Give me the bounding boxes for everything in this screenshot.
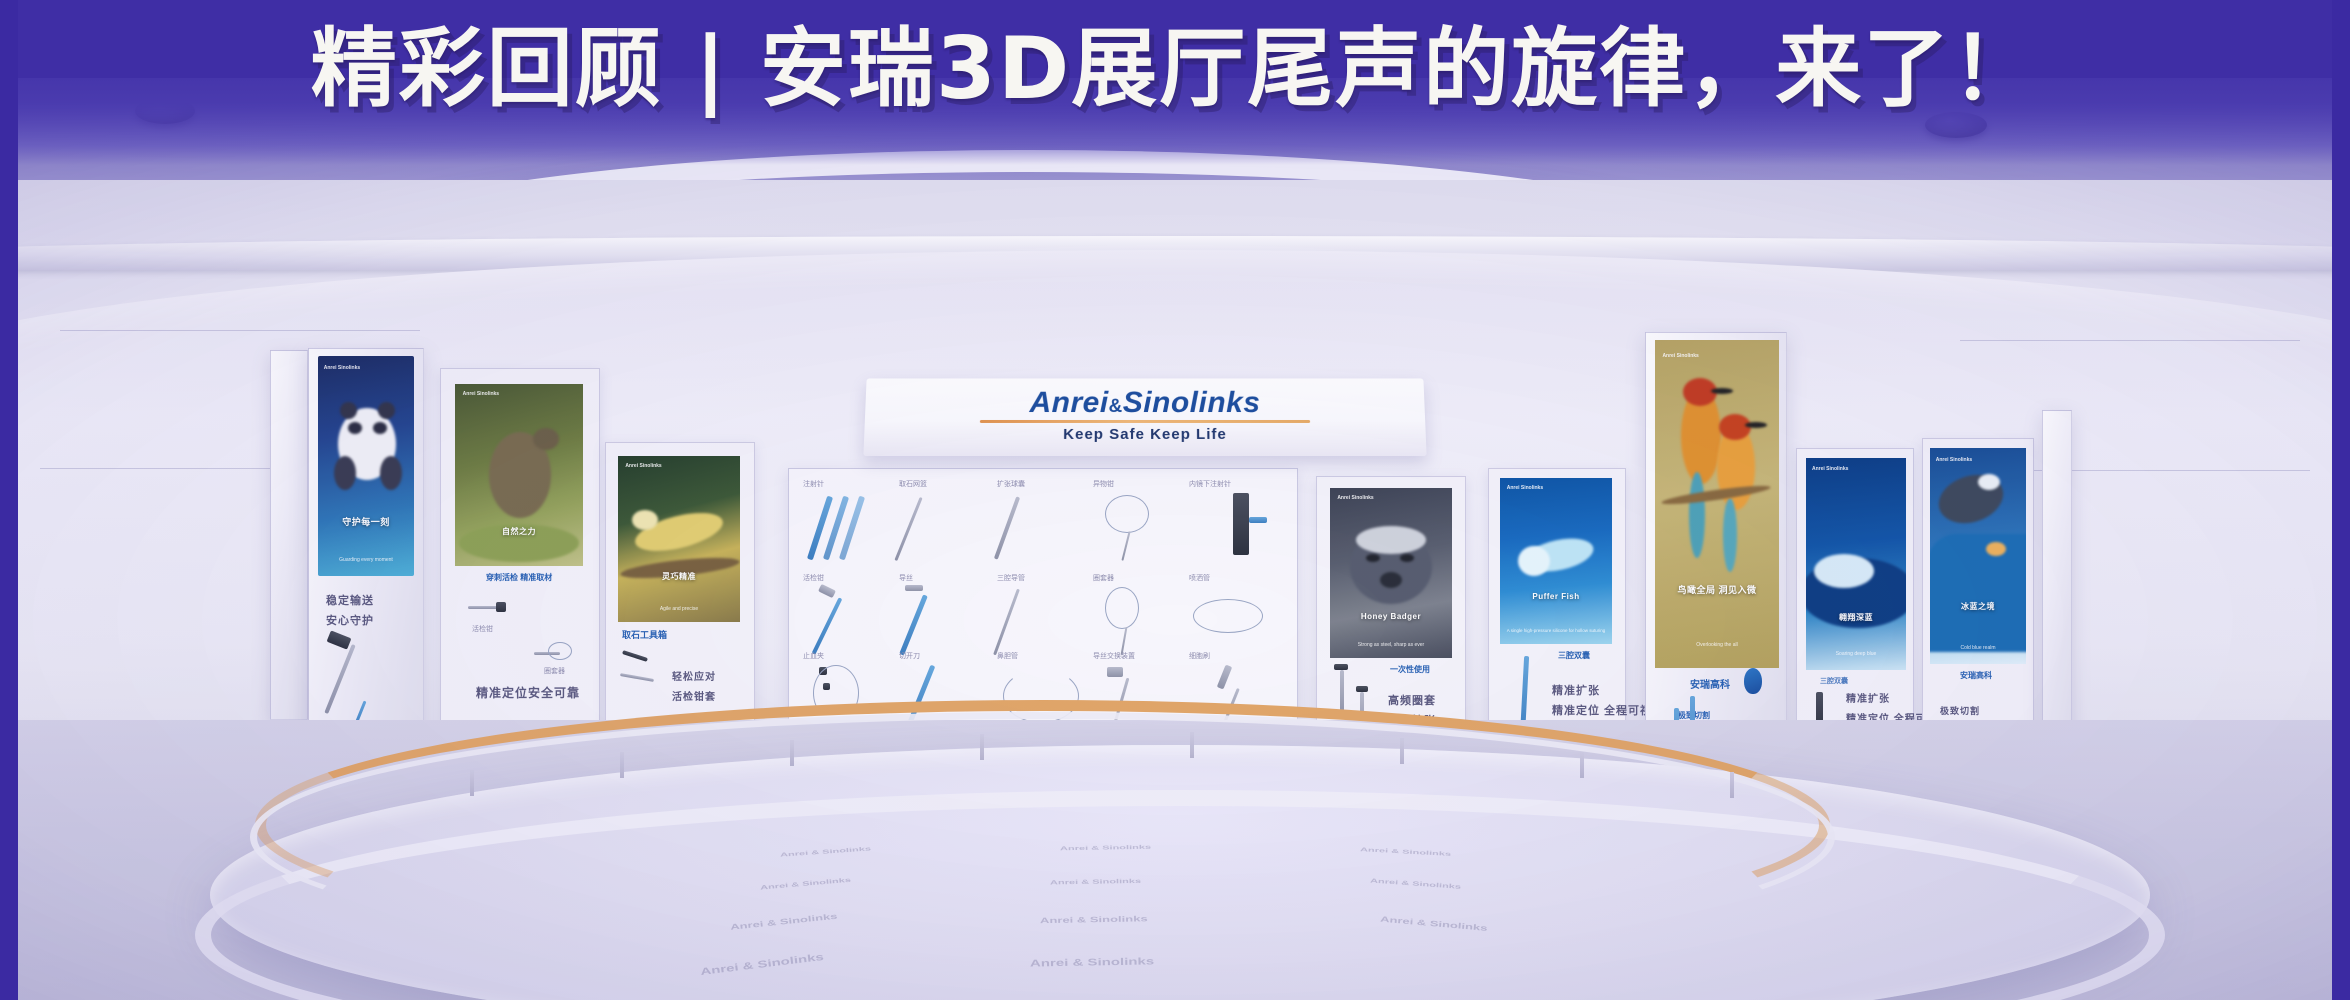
rail-post xyxy=(470,770,474,796)
bird-beak-icon xyxy=(1745,422,1767,428)
product-label: 导丝 xyxy=(899,573,913,583)
bird-tail-icon xyxy=(1723,498,1737,572)
bird-branch xyxy=(1661,482,1771,507)
poster-title: 鸟瞰全局 洞见入微 xyxy=(1662,583,1771,596)
poster-logo-label: Anrei Sinolinks xyxy=(625,463,661,469)
caption-badger-2: 高频圈套 xyxy=(1388,692,1436,708)
device-label: 活检钳 xyxy=(472,624,493,634)
brand-swoosh-icon xyxy=(980,420,1310,423)
gecko-head-icon xyxy=(632,510,658,530)
brand-name: Anrei&Sinolinks xyxy=(865,386,1425,420)
kangaroo-head-icon xyxy=(533,428,559,450)
panda-eye-icon xyxy=(348,422,362,434)
product-guidewire-handle xyxy=(905,585,923,591)
product-endo-injector xyxy=(1233,493,1249,555)
caption-lizard: 取石工具箱 xyxy=(622,628,667,641)
caption-kangaroo: 穿刺活检 精准取材 xyxy=(486,572,552,583)
poster-title: Puffer Fish xyxy=(1507,592,1606,601)
product-triple-lumen xyxy=(993,589,1020,656)
product-biopsy-forceps-jaw xyxy=(818,584,836,598)
caption-panda-1: 稳定输送 xyxy=(326,592,374,608)
poster-subtitle: Strong as steel, sharp as ever xyxy=(1337,642,1444,648)
device-forceps xyxy=(468,606,498,609)
caption-kangaroo-sub: 精准定位安全可靠 xyxy=(476,684,580,701)
rail-post xyxy=(1580,752,1584,778)
panda-ear-icon xyxy=(378,402,395,419)
product-balloon xyxy=(994,496,1020,559)
brand-tagline: Keep Safe Keep Life xyxy=(864,426,1426,443)
poster-logo-label: Anrei Sinolinks xyxy=(463,391,499,397)
poster-ice[interactable]: Anrei Sinolinks 冰蓝之境 Cold blue realm xyxy=(1930,448,2026,664)
poster-subtitle: Guarding every moment xyxy=(324,557,409,563)
rail-post xyxy=(980,734,984,760)
device-label: 圈套器 xyxy=(544,666,565,676)
badger-snout-icon xyxy=(1380,572,1402,588)
poster-logo-label: Anrei Sinolinks xyxy=(1507,485,1543,491)
poster-subtitle: Cold blue realm xyxy=(1936,645,2021,651)
poster-panda[interactable]: Anrei Sinolinks 守护每一刻 Guarding every mom… xyxy=(318,356,414,576)
dolphin-bubble-icon xyxy=(1518,546,1550,576)
stage-rail-white xyxy=(250,712,1835,962)
product-cytology-brush xyxy=(1217,665,1232,690)
poster-logo-label: Anrei Sinolinks xyxy=(1662,353,1698,359)
wall-brand-sign: Anrei&Sinolinks Keep Safe Keep Life xyxy=(863,378,1426,456)
product-label: 三腔导管 xyxy=(997,573,1025,583)
caption-ocean: 三腔双囊 xyxy=(1820,676,1848,686)
left-border-strip xyxy=(0,0,18,1000)
poster-dolphin[interactable]: Anrei Sinolinks Puffer Fish A single hig… xyxy=(1500,478,1612,644)
product-biopsy-forceps-shaft xyxy=(812,597,843,654)
poster-ocean[interactable]: Anrei Sinolinks 翱翔深蓝 Soaring deep blue xyxy=(1806,458,1906,670)
iceberg-illustration xyxy=(1930,534,2026,652)
product-exchange-device xyxy=(1107,667,1123,677)
caption-ocean-2: 精准扩张 xyxy=(1846,690,1890,705)
rail-post xyxy=(620,752,624,778)
brand-name-left: Anrei xyxy=(1029,386,1108,419)
product-spray-catheter-loop xyxy=(1193,599,1263,633)
poster-title: 翱翔深蓝 xyxy=(1812,612,1900,623)
poster-title: 冰蓝之境 xyxy=(1936,601,2021,612)
poster-subtitle: A single high-pressure silicone for holl… xyxy=(1507,628,1606,634)
badger-crown-icon xyxy=(1356,526,1426,554)
caption-dolphin-2: 精准扩张 xyxy=(1552,682,1600,698)
panda-ear-icon xyxy=(340,402,357,419)
panda-eye-icon xyxy=(373,422,387,434)
badger-eye-icon xyxy=(1366,554,1380,562)
brand-mark-label-right: 安瑞高科 xyxy=(1960,670,1992,681)
product-forceps-loop xyxy=(1105,495,1149,533)
panda-arm-icon xyxy=(380,456,402,490)
poster-kangaroo[interactable]: Anrei Sinolinks 自然之力 xyxy=(455,384,583,566)
device-snare-loop xyxy=(548,642,572,660)
poster-badger[interactable]: Anrei Sinolinks Honey Badger Strong as s… xyxy=(1330,488,1452,658)
sun-icon xyxy=(1986,542,2006,556)
product-guidewire xyxy=(899,594,928,655)
poster-title: 自然之力 xyxy=(463,526,576,537)
poster-title: Honey Badger xyxy=(1337,612,1444,621)
poster-lizard[interactable]: Anrei Sinolinks 灵巧精准 Agile and precise xyxy=(618,456,740,622)
product-basket xyxy=(894,497,922,561)
caption-lizard-3: 活检钳套 xyxy=(672,688,716,703)
product-label: 活检钳 xyxy=(803,573,824,583)
caption-dolphin-1: 三腔双囊 xyxy=(1558,650,1590,661)
product-label: 止血夹 xyxy=(803,651,824,661)
poster-subtitle: Overlooking the all xyxy=(1662,642,1771,648)
product-label: 内镜下注射针 xyxy=(1189,479,1231,489)
badger-eye-icon xyxy=(1400,554,1414,562)
product-label: 鼻胆管 xyxy=(997,651,1018,661)
bird-beak-icon xyxy=(1711,388,1733,394)
rail-post xyxy=(1400,738,1404,764)
poster-subtitle: Soaring deep blue xyxy=(1812,651,1900,657)
exhibition-hall-screenshot: Anrei Sinolinks 守护每一刻 Guarding every mom… xyxy=(0,0,2350,1000)
pillar-left[interactable] xyxy=(270,350,308,720)
poster-logo-label: Anrei Sinolinks xyxy=(324,365,360,371)
right-border-strip xyxy=(2332,0,2350,1000)
product-label: 细胞刷 xyxy=(1189,651,1210,661)
poster-logo-label: Anrei Sinolinks xyxy=(1337,495,1373,501)
wave-crest-icon xyxy=(1814,554,1874,588)
poster-subtitle: Agile and precise xyxy=(625,606,732,612)
device-forceps-jaw xyxy=(496,602,506,612)
wall-seam xyxy=(1960,340,2300,341)
product-forceps-shaft xyxy=(1121,531,1130,561)
poster-logo-label: Anrei Sinolinks xyxy=(1812,466,1848,472)
pillar-right[interactable] xyxy=(2042,410,2072,760)
caption-panda-2: 安心守护 xyxy=(326,612,374,628)
product-label: 注射针 xyxy=(803,479,824,489)
caption-lizard-2: 轻松应对 xyxy=(672,668,716,683)
bird-tail-icon xyxy=(1689,472,1705,558)
wall-seam xyxy=(60,330,420,331)
rail-post xyxy=(1190,732,1194,758)
bird-head-icon xyxy=(1719,414,1751,440)
brand-ampersand: & xyxy=(1109,396,1123,417)
panda-arm-icon xyxy=(334,456,356,490)
poster-title: 守护每一刻 xyxy=(324,515,409,528)
product-label: 取石网篮 xyxy=(899,479,927,489)
poster-title: 灵巧精准 xyxy=(625,571,732,582)
caption-dolphin-3: 精准定位 全程可视 xyxy=(1552,702,1652,718)
product-label: 喷洒管 xyxy=(1189,573,1210,583)
product-label: 异物钳 xyxy=(1093,479,1114,489)
product-label: 导丝交换装置 xyxy=(1093,651,1135,661)
rail-post xyxy=(1730,772,1734,798)
page-title: 精彩回顾 | 安瑞3D展厅尾声的旋律，来了！ xyxy=(0,26,2350,112)
product-label: 切开刀 xyxy=(899,651,920,661)
poster-bee-eater[interactable]: Anrei Sinolinks 鸟瞰全局 洞见入微 Overlooking th… xyxy=(1655,340,1779,668)
eagle-head-icon xyxy=(1978,474,2000,490)
caption-ice: 极致切割 xyxy=(1940,704,1980,717)
brand-i-icon xyxy=(1744,668,1762,694)
rail-post xyxy=(790,740,794,766)
product-label: 圈套器 xyxy=(1093,573,1114,583)
brand-name-right: Sinolinks xyxy=(1123,386,1261,419)
caption-badger-1: 一次性使用 xyxy=(1390,664,1430,675)
product-snare-loop xyxy=(1105,587,1139,629)
product-label: 扩张球囊 xyxy=(997,479,1025,489)
product-endo-injector-tip xyxy=(1249,517,1267,523)
poster-logo-label: Anrei Sinolinks xyxy=(1936,457,1972,463)
brand-mark-label: 安瑞高科 xyxy=(1690,676,1730,691)
